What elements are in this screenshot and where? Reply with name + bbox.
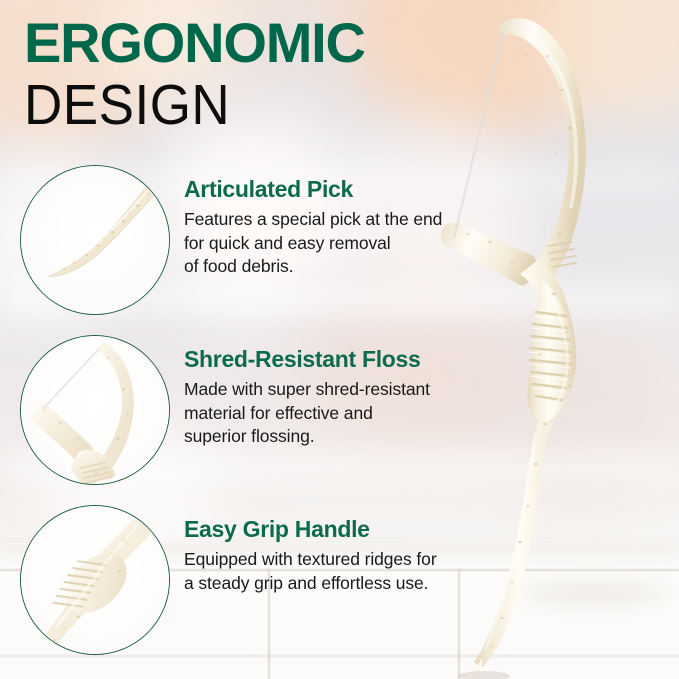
- product-hero-image: [430, 0, 679, 674]
- headline-primary: ERGONOMIC: [24, 14, 365, 72]
- feature-image-articulated-pick: [20, 165, 170, 315]
- floss-pick-illustration: [430, 0, 679, 679]
- headline-block: ERGONOMIC DESIGN: [24, 14, 365, 134]
- grip-handle-illustration: [21, 506, 169, 654]
- pick-tip-illustration: [21, 166, 169, 314]
- feature-image-easy-grip-handle: [20, 505, 170, 655]
- infographic-canvas: ERGONOMIC DESIGN: [0, 0, 679, 679]
- floss-head-illustration: [21, 336, 169, 484]
- feature-image-shred-resistant-floss: [20, 335, 170, 485]
- headline-secondary: DESIGN: [24, 74, 365, 138]
